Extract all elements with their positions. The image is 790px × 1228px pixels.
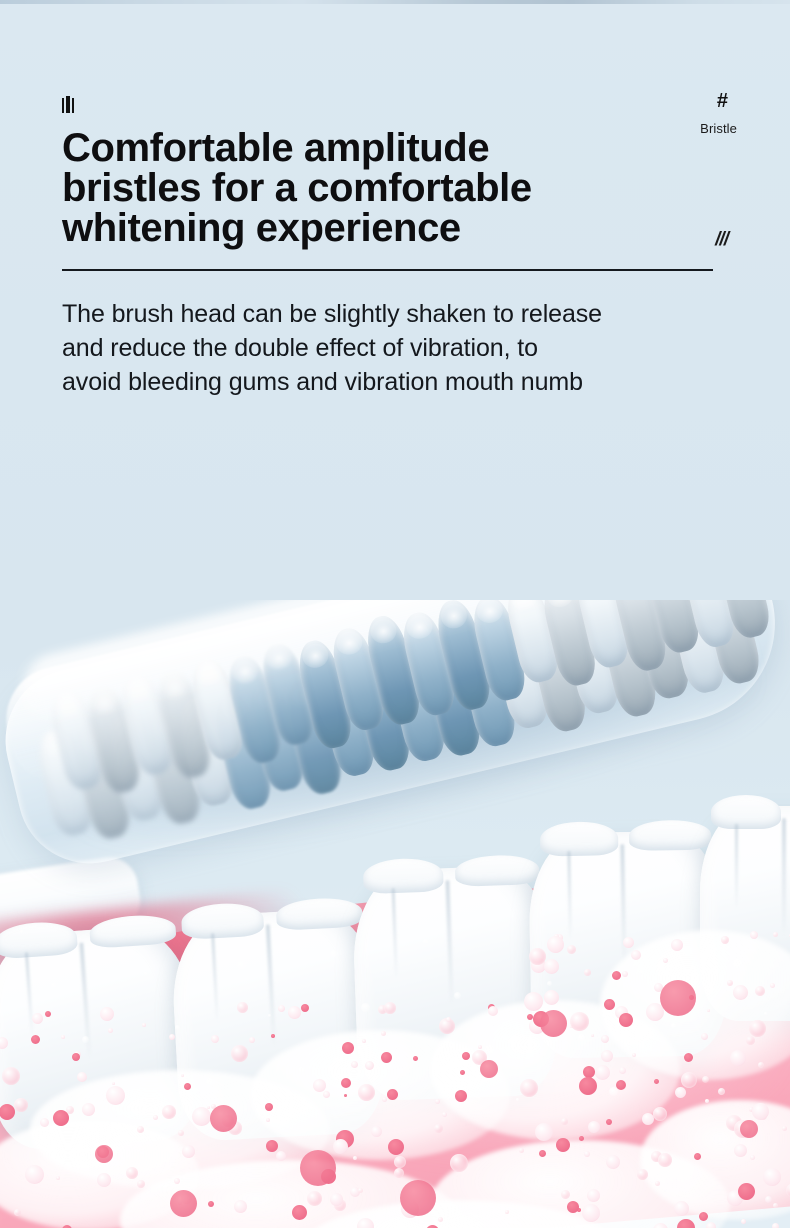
foam-bubble bbox=[381, 1031, 386, 1036]
foam-bubble bbox=[341, 1078, 351, 1088]
foam-bubble bbox=[126, 1167, 138, 1179]
foam-bubble bbox=[438, 1217, 443, 1222]
tooth-groove bbox=[266, 924, 276, 1048]
foam-bubble bbox=[382, 1097, 387, 1102]
foam-bubble bbox=[413, 1056, 418, 1061]
foam-bubble bbox=[733, 985, 748, 1000]
foam-bubble bbox=[56, 1176, 60, 1180]
foam-bubble bbox=[772, 1223, 779, 1228]
foam-bubble bbox=[435, 1099, 440, 1104]
tooth-cusp bbox=[711, 795, 781, 829]
foam-bubble bbox=[100, 1007, 114, 1021]
foam-bubble bbox=[755, 986, 765, 996]
foam-bubble bbox=[547, 936, 564, 953]
top-panel-seam bbox=[0, 0, 790, 4]
foam-bubble bbox=[313, 1079, 326, 1092]
foam-bubble-large bbox=[480, 1060, 498, 1078]
foam-bubble bbox=[142, 1023, 146, 1027]
bristle-label: Bristle bbox=[700, 122, 737, 136]
foam-bubble bbox=[758, 1062, 764, 1068]
foam-bubble bbox=[108, 1028, 113, 1033]
foam-bubble bbox=[655, 1181, 660, 1186]
foam-bubble bbox=[72, 1053, 80, 1061]
foam-bubble bbox=[381, 1052, 392, 1063]
foam-bubble bbox=[606, 1155, 620, 1169]
tooth-groove bbox=[782, 818, 786, 936]
tooth-highlight bbox=[268, 1014, 271, 1017]
foam-bubble bbox=[82, 1103, 95, 1116]
headline-line-1: Comfortable amplitude bbox=[62, 128, 682, 168]
foam-bubble-large bbox=[400, 1180, 436, 1216]
foam-bubble bbox=[632, 1053, 636, 1057]
foam-bubble bbox=[718, 1088, 725, 1095]
foam-bubble bbox=[721, 936, 729, 944]
foam-bubble bbox=[584, 969, 591, 976]
description-text: The brush head can be slightly shaken to… bbox=[62, 297, 774, 399]
foam-bubble bbox=[561, 1190, 570, 1199]
foam-bubble bbox=[601, 1050, 613, 1062]
foam-bubble bbox=[365, 1061, 374, 1070]
foam-bubble bbox=[351, 1061, 358, 1068]
foam-bubble bbox=[53, 1110, 69, 1126]
foam-bubble bbox=[595, 1065, 610, 1080]
foam-bubble bbox=[184, 1083, 191, 1090]
foam-bubble bbox=[750, 931, 758, 939]
foam-bubble bbox=[770, 983, 775, 988]
foam-bubble bbox=[623, 937, 634, 948]
tooth-groove bbox=[567, 851, 572, 941]
foam-bubble bbox=[333, 1139, 348, 1154]
foam-bubble bbox=[705, 1099, 709, 1103]
foam-bubble bbox=[582, 1204, 600, 1222]
foam-bubble bbox=[182, 1145, 195, 1158]
foam-bubble bbox=[529, 948, 546, 965]
foam-bubble bbox=[394, 1168, 404, 1178]
foam-bubble bbox=[192, 1107, 211, 1126]
foam-bubble bbox=[730, 1050, 746, 1066]
foam-bubble bbox=[178, 1130, 184, 1136]
foam-bubble bbox=[535, 1123, 553, 1141]
slashes-icon: /// bbox=[715, 230, 728, 249]
foam-bubble bbox=[539, 1150, 546, 1157]
tooth-cusp bbox=[629, 820, 711, 851]
foam-bubble bbox=[706, 1222, 716, 1228]
foam-bubble bbox=[357, 1218, 374, 1228]
foam-bubble bbox=[265, 1103, 273, 1111]
foam-bubble bbox=[746, 1036, 755, 1045]
foam-bubble bbox=[353, 1156, 357, 1160]
foam-bubble bbox=[106, 1086, 125, 1105]
tooth-highlight bbox=[423, 939, 428, 944]
foam-bubble bbox=[654, 1079, 659, 1084]
foam-bubble bbox=[619, 1067, 626, 1074]
foam-bubble bbox=[653, 1107, 667, 1121]
body-line-1: The brush head can be slightly shaken to… bbox=[62, 297, 774, 331]
body-line-2: and reduce the double effect of vibratio… bbox=[62, 331, 774, 365]
foam-bubble bbox=[97, 1173, 111, 1187]
tooth-groove bbox=[735, 824, 738, 910]
foam-bubble bbox=[450, 1154, 468, 1172]
foam-bubble bbox=[579, 1136, 584, 1141]
foam-bubble bbox=[2, 1067, 20, 1085]
foam-bubble bbox=[631, 950, 641, 960]
foam-bubble bbox=[579, 1077, 597, 1095]
foam-bubble bbox=[266, 1118, 270, 1122]
foam-bubble bbox=[434, 1124, 443, 1133]
three-vertical-bars-icon bbox=[62, 93, 74, 113]
foam-bubble bbox=[137, 1180, 145, 1188]
foam-bubble bbox=[271, 1034, 275, 1038]
tooth-groove bbox=[211, 933, 219, 1023]
tooth-highlight bbox=[547, 981, 552, 986]
foam-bubble bbox=[292, 1205, 307, 1220]
foam-bubble bbox=[749, 1020, 766, 1037]
foam-bubble bbox=[249, 1037, 255, 1043]
foam-bubble bbox=[162, 1105, 176, 1119]
foam-bubble bbox=[358, 1084, 375, 1101]
product-feature-page: # Bristle /// Comfortable amplitude bris… bbox=[0, 0, 790, 1228]
tooth-highlight bbox=[51, 983, 56, 988]
foam-bubble bbox=[32, 1013, 43, 1024]
foam-bubble bbox=[323, 1091, 330, 1098]
foam-bubble-large bbox=[170, 1190, 197, 1217]
foam-bubble-large bbox=[95, 1145, 113, 1163]
foam-bubble bbox=[591, 1034, 594, 1037]
foam-bubble bbox=[675, 1087, 686, 1098]
foam-bubble bbox=[734, 1144, 747, 1157]
tooth-groove bbox=[25, 952, 34, 1038]
foam-bubble bbox=[342, 1042, 354, 1054]
foam-bubble bbox=[276, 1151, 286, 1161]
foam-bubble bbox=[208, 1201, 214, 1207]
foam-bubble bbox=[694, 1153, 701, 1160]
foam-bubble bbox=[169, 1034, 175, 1040]
foam-bubble bbox=[231, 1045, 248, 1062]
tooth-highlight bbox=[237, 961, 246, 970]
foam-bubble bbox=[622, 971, 628, 977]
tooth-highlight bbox=[361, 1003, 370, 1012]
foam-bubble bbox=[14, 1098, 28, 1112]
foam-bubble bbox=[612, 971, 621, 980]
foam-bubble bbox=[616, 1080, 626, 1090]
foam-bubble bbox=[763, 1168, 781, 1186]
foam-bubble-large bbox=[300, 1150, 336, 1186]
foam-bubble bbox=[384, 1002, 396, 1014]
foam-bubble bbox=[701, 1033, 708, 1040]
foam-bubble bbox=[738, 1183, 755, 1200]
foam-bubble bbox=[362, 1039, 366, 1043]
foam-bubble bbox=[278, 1005, 285, 1012]
foam-bubble bbox=[460, 1070, 465, 1075]
foam-bubble bbox=[570, 1012, 589, 1031]
foam-bubble bbox=[344, 1094, 347, 1097]
tooth-highlight bbox=[454, 992, 461, 999]
foam-bubble bbox=[637, 1169, 648, 1180]
foam-bubble bbox=[658, 1153, 672, 1167]
tooth-cusp bbox=[540, 821, 619, 856]
foam-bubble bbox=[387, 1089, 398, 1100]
foam-bubble bbox=[544, 990, 559, 1005]
foam-bubble bbox=[556, 1138, 570, 1152]
foam-bubble bbox=[519, 1148, 524, 1153]
foam-bubble bbox=[137, 1126, 144, 1133]
tooth-highlight bbox=[20, 930, 23, 933]
foam-bubble bbox=[587, 1189, 600, 1202]
tooth-groove bbox=[392, 888, 398, 980]
foam-bubble bbox=[765, 1196, 772, 1203]
foam-bubble bbox=[773, 1203, 778, 1208]
foam-bubble bbox=[663, 958, 668, 963]
foam-bubble bbox=[681, 1072, 697, 1088]
foam-bubble bbox=[14, 1209, 21, 1216]
foam-bubble bbox=[604, 999, 615, 1010]
page-title: Comfortable amplitude bristles for a com… bbox=[62, 128, 682, 248]
foam-bubble bbox=[478, 1045, 482, 1049]
foam-bubble bbox=[750, 1155, 755, 1160]
foam-bubble bbox=[442, 1112, 447, 1117]
foam-bubble bbox=[266, 1140, 278, 1152]
foam-bubble bbox=[153, 1115, 158, 1120]
foam-bubble bbox=[567, 1201, 579, 1213]
tooth-groove bbox=[620, 844, 626, 968]
foam-bubble bbox=[388, 1139, 404, 1155]
foam-bubble bbox=[40, 1118, 49, 1127]
foam-bubble bbox=[371, 1126, 382, 1137]
foam-bubble bbox=[606, 1119, 612, 1125]
foam-bubble bbox=[174, 1178, 180, 1184]
foam-bubble bbox=[588, 1121, 600, 1133]
foam-bubble bbox=[561, 1118, 568, 1125]
headline-line-2: bristles for a comfortable bbox=[62, 168, 682, 208]
body-line-3: avoid bleeding gums and vibration mouth … bbox=[62, 365, 774, 399]
foam-bubble bbox=[699, 1212, 708, 1221]
foam-bubble bbox=[684, 1053, 693, 1062]
foam-bubble bbox=[181, 1074, 184, 1077]
foam-bubble bbox=[234, 1200, 247, 1213]
foam-bubble bbox=[25, 1165, 44, 1184]
divider bbox=[62, 269, 713, 271]
foam-bubble bbox=[741, 1219, 746, 1224]
foam-bubble bbox=[112, 1082, 115, 1085]
tooth-highlight bbox=[82, 1036, 89, 1043]
foam-bubble bbox=[488, 1006, 498, 1016]
foam-bubble bbox=[446, 1017, 451, 1022]
foam-bubble-large bbox=[660, 980, 696, 1016]
foam-bubble bbox=[619, 1013, 633, 1027]
foam-bubble bbox=[674, 1201, 689, 1216]
foam-bubble bbox=[505, 1210, 509, 1214]
foam-bubble bbox=[301, 1004, 309, 1012]
tooth-groove bbox=[445, 880, 453, 1007]
foam-bubble bbox=[524, 992, 543, 1011]
tooth-highlight bbox=[330, 950, 337, 957]
tooth-highlight bbox=[175, 1025, 180, 1030]
foam-bubble-large bbox=[540, 1010, 567, 1037]
hash-icon: # bbox=[717, 91, 728, 111]
foam-bubble bbox=[31, 1035, 40, 1044]
foam-bubble bbox=[394, 1156, 406, 1168]
foam-bubble-large bbox=[740, 1120, 758, 1138]
foam-bubble bbox=[707, 1009, 710, 1012]
tooth-highlight bbox=[144, 972, 147, 975]
foam-bubble bbox=[520, 1079, 538, 1097]
foam-bubble bbox=[77, 1072, 87, 1082]
foam-bubble bbox=[358, 1188, 363, 1193]
foam-bubble bbox=[752, 1103, 769, 1120]
foam-bubble bbox=[288, 1006, 301, 1019]
headline-line-3: whitening experience bbox=[62, 208, 682, 248]
foam-bubble bbox=[211, 1035, 219, 1043]
foam-bubble bbox=[61, 1035, 65, 1039]
foam-bubble bbox=[727, 980, 733, 986]
foam-bubble bbox=[584, 1151, 590, 1157]
foam-bubble bbox=[567, 945, 576, 954]
foam-bubble bbox=[237, 1002, 248, 1013]
foam-bubble bbox=[782, 1126, 787, 1131]
foam-bubble bbox=[462, 1052, 470, 1060]
product-photo bbox=[0, 600, 790, 1228]
foam-bubble bbox=[307, 1191, 322, 1206]
foam-bubble bbox=[45, 1011, 51, 1017]
foam-bubble bbox=[330, 1193, 343, 1206]
foam-bubble bbox=[773, 932, 778, 937]
foam-bubble bbox=[601, 1035, 609, 1043]
foam-bubble bbox=[455, 1090, 467, 1102]
foam-bubble bbox=[544, 959, 559, 974]
foam-bubble bbox=[671, 939, 683, 951]
foam-bubble-large bbox=[210, 1105, 237, 1132]
